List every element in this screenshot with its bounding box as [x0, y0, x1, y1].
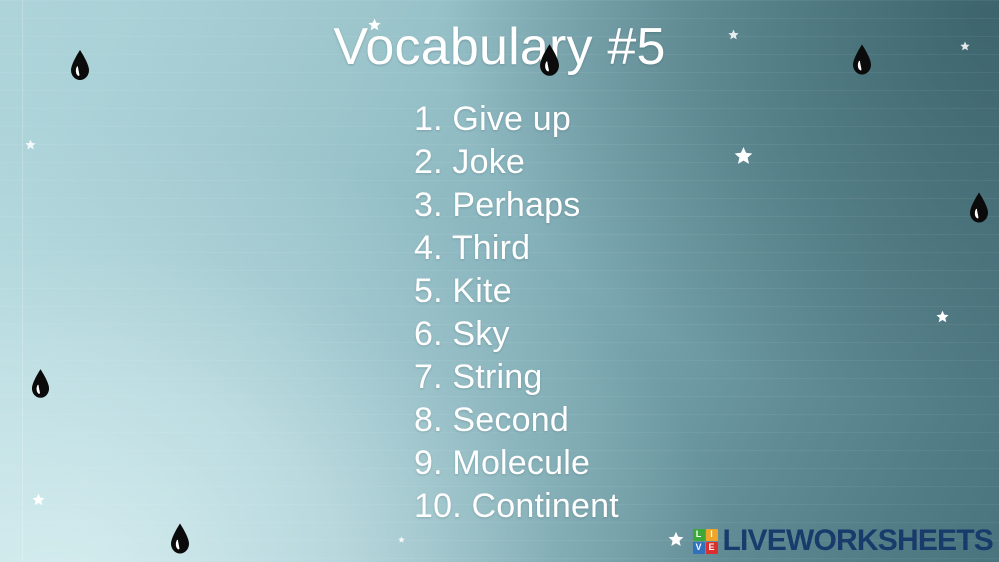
- list-item-word: Perhaps: [452, 186, 580, 224]
- list-item-number: 8.: [414, 399, 443, 442]
- list-item: 6. Sky: [414, 313, 619, 356]
- liveworksheets-tiles: L I V E: [693, 529, 718, 554]
- star-icon: [668, 531, 684, 547]
- list-item-word: Give up: [452, 100, 571, 138]
- star-icon: [936, 310, 949, 323]
- list-item: 1. Give up: [414, 98, 619, 141]
- liveworksheets-watermark: L I V E LIVEWORKSHEETS: [693, 526, 994, 556]
- logo-tile-i: I: [706, 529, 718, 541]
- list-item-number: 1.: [414, 98, 443, 141]
- list-item-word: Joke: [452, 143, 525, 181]
- logo-tile-v: V: [693, 542, 705, 554]
- list-item-word: Kite: [452, 272, 511, 310]
- liveworksheets-wordmark: LIVEWORKSHEETS: [723, 526, 994, 556]
- star-icon: [734, 146, 753, 165]
- list-item-word: Continent: [472, 487, 619, 525]
- list-item: 9. Molecule: [414, 442, 619, 485]
- list-item: 10. Continent: [414, 485, 619, 528]
- notebook-margin-line: [22, 0, 23, 562]
- star-icon: [398, 536, 405, 543]
- list-item: 7. String: [414, 356, 619, 399]
- water-drop-icon: [31, 369, 50, 398]
- list-item-number: 10.: [414, 485, 462, 528]
- slide-canvas: Vocabulary #5 1. Give up2. Joke3. Perhap…: [0, 0, 999, 562]
- star-icon: [25, 139, 36, 150]
- list-item-number: 9.: [414, 442, 443, 485]
- page-title: Vocabulary #5: [0, 18, 999, 78]
- list-item-number: 2.: [414, 141, 443, 184]
- list-item-number: 7.: [414, 356, 443, 399]
- list-item: 8. Second: [414, 399, 619, 442]
- list-item: 4. Third: [414, 227, 619, 270]
- list-item: 2. Joke: [414, 141, 619, 184]
- list-item: 5. Kite: [414, 270, 619, 313]
- list-item-word: String: [452, 358, 542, 396]
- list-item-number: 6.: [414, 313, 443, 356]
- list-item: 3. Perhaps: [414, 184, 619, 227]
- water-drop-icon: [969, 192, 989, 223]
- logo-tile-e: E: [706, 542, 718, 554]
- list-item-number: 3.: [414, 184, 443, 227]
- list-item-word: Third: [452, 229, 530, 267]
- list-item-number: 5.: [414, 270, 443, 313]
- list-item-number: 4.: [414, 227, 443, 270]
- list-item-word: Molecule: [452, 444, 590, 482]
- star-icon: [32, 493, 45, 506]
- logo-tile-l: L: [693, 529, 705, 541]
- list-item-word: Sky: [452, 315, 509, 353]
- vocabulary-list: 1. Give up2. Joke3. Perhaps4. Third5. Ki…: [414, 98, 619, 528]
- water-drop-icon: [170, 523, 190, 554]
- list-item-word: Second: [452, 401, 569, 439]
